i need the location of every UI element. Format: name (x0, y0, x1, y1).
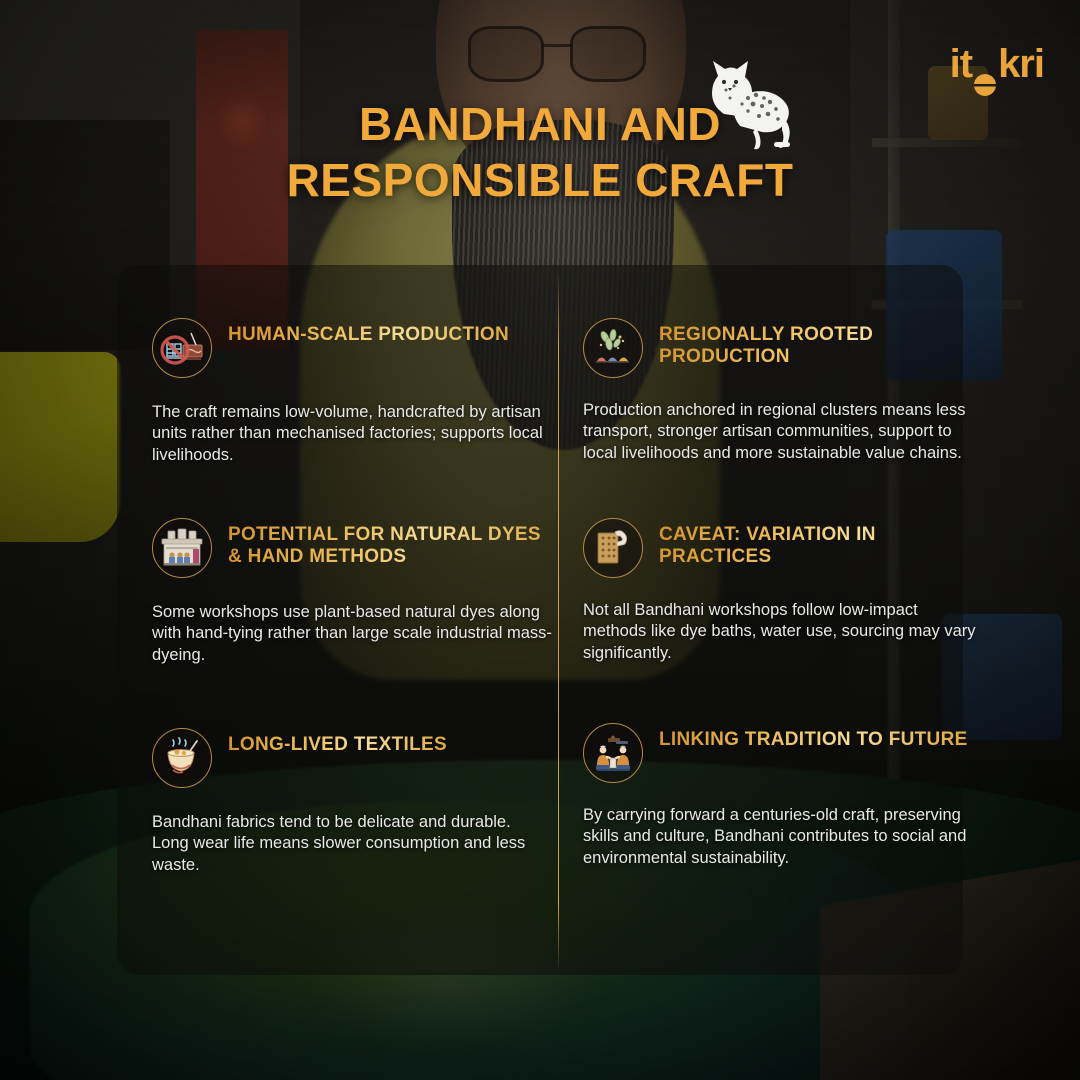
card-potential-for-natural-dyes: POTENTIAL FOR NATURAL DYES & HAND METHOD… (152, 518, 552, 666)
card-body: Some workshops use plant-based natural d… (152, 602, 552, 666)
card-body: The craft remains low-volume, handcrafte… (152, 402, 544, 466)
card-title: HUMAN-SCALE PRODUCTION (228, 318, 509, 346)
brand-logo-text-part-1: it (950, 44, 972, 84)
page-title-line-1: BANDHANI AND (0, 96, 1080, 152)
brand-logo-text-part-3: kri (998, 44, 1044, 84)
card-title: LONG-LIVED TEXTILES (228, 728, 447, 756)
card-header: REGIONALLY ROOTED PRODUCTION (583, 318, 983, 378)
column-divider (558, 273, 559, 973)
card-body: Production anchored in regional clusters… (583, 400, 983, 464)
card-body: By carrying forward a centuries-old craf… (583, 805, 983, 869)
card-body: Bandhani fabrics tend to be delicate and… (152, 812, 544, 876)
card-header: LINKING TRADITION TO FUTURE (583, 723, 983, 783)
card-header: CAVEAT: VARIATION IN PRACTICES (583, 518, 983, 578)
card-body: Not all Bandhani workshops follow low-im… (583, 600, 983, 664)
card-title: CAVEAT: VARIATION IN PRACTICES (659, 518, 983, 569)
card-caveat-variation-in-practices: CAVEAT: VARIATION IN PRACTICES Not all B… (583, 518, 983, 664)
steaming-dye-pot-icon (152, 728, 212, 788)
page-title: BANDHANI AND RESPONSIBLE CRAFT (0, 96, 1080, 208)
card-long-lived-textiles: LONG-LIVED TEXTILES Bandhani fabrics ten… (152, 728, 544, 876)
card-human-scale-production: HUMAN-SCALE PRODUCTION The craft remains… (152, 318, 544, 466)
card-title: REGIONALLY ROOTED PRODUCTION (659, 318, 983, 369)
leaves-and-dye-powders-icon (583, 318, 643, 378)
infographic-poster: itkri BANDHANI AND RESPONSIBLE CRAFT (0, 0, 1080, 1080)
card-header: LONG-LIVED TEXTILES (152, 728, 544, 788)
card-linking-tradition-to-future: LINKING TRADITION TO FUTURE By carrying … (583, 723, 983, 869)
hand-holding-patterned-fabric-icon (583, 518, 643, 578)
brand-logo[interactable]: itkri (950, 44, 1044, 84)
card-header: HUMAN-SCALE PRODUCTION (152, 318, 544, 378)
card-regionally-rooted-production: REGIONALLY ROOTED PRODUCTION Production … (583, 318, 983, 464)
page-title-line-2: RESPONSIBLE CRAFT (0, 152, 1080, 208)
card-title: LINKING TRADITION TO FUTURE (659, 723, 968, 751)
craft-workshop-building-icon (152, 518, 212, 578)
two-artisans-working-icon (583, 723, 643, 783)
no-factory-icon (152, 318, 212, 378)
card-title: POTENTIAL FOR NATURAL DYES & HAND METHOD… (228, 518, 552, 569)
card-header: POTENTIAL FOR NATURAL DYES & HAND METHOD… (152, 518, 552, 578)
